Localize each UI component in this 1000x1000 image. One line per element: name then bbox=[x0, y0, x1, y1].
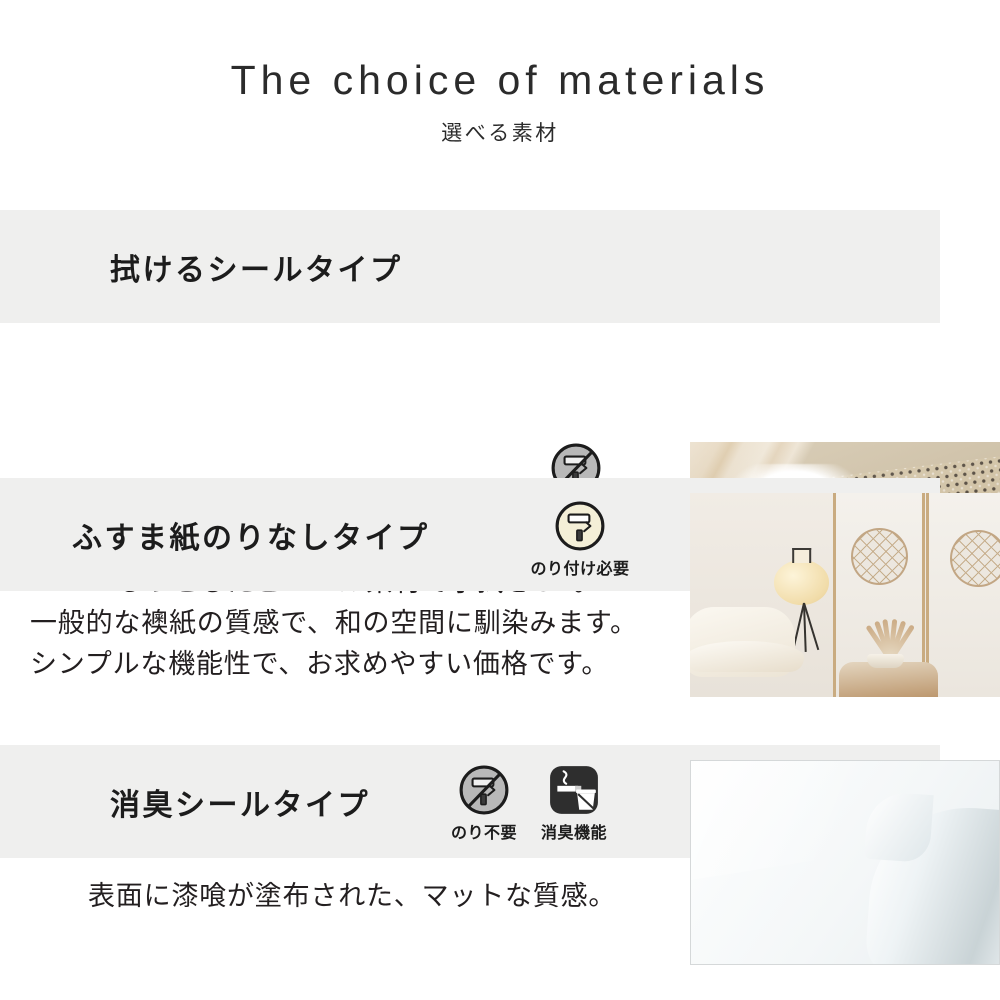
section-body: 表面に漆喰が塗布された、マットな質感。 bbox=[88, 876, 616, 917]
armchair bbox=[690, 607, 795, 676]
section-badges: のり不要 消臭機能 bbox=[448, 764, 610, 843]
badge-label: のり付け必要 bbox=[530, 555, 629, 579]
body-line: 一般的な襖紙の質感で、和の空間に馴染みます。 bbox=[30, 603, 638, 644]
section-badges: のり付け必要 bbox=[520, 500, 640, 579]
badge-glue-required: のり付け必要 bbox=[520, 500, 640, 579]
section-header-row: 拭けるシールタイプ bbox=[0, 210, 580, 323]
section-body: 一般的な襖紙の質感で、和の空間に馴染みます。 シンプルな機能性で、お求めやすい価… bbox=[30, 603, 638, 685]
badge-deodorizing: 消臭機能 bbox=[538, 764, 610, 843]
deodorizing-function-icon bbox=[548, 764, 600, 816]
section-header-row: ふすま紙のりなしタイプ bbox=[0, 478, 560, 591]
section-title: 拭けるシールタイプ bbox=[110, 245, 403, 289]
badge-no-glue: のり不要 bbox=[448, 764, 520, 843]
section-header-row: 消臭シールタイプ bbox=[0, 745, 470, 858]
page-subtitle-ja: 選べる素材 bbox=[0, 103, 1000, 147]
badge-label: のり不要 bbox=[451, 819, 517, 843]
no-glue-roller-icon bbox=[458, 764, 510, 816]
paper-sheet bbox=[690, 760, 1000, 965]
lattice-circle-motif bbox=[950, 530, 1000, 587]
lattice-circle-motif bbox=[851, 528, 908, 585]
paper-curled-corner bbox=[864, 801, 1000, 965]
page-title-en: The choice of materials bbox=[0, 0, 1000, 103]
fusuma-panel bbox=[926, 493, 1000, 697]
photo-japanese-interior-fusuma bbox=[690, 493, 1000, 697]
glue-required-roller-icon bbox=[554, 500, 606, 552]
badge-label: 消臭機能 bbox=[541, 819, 607, 843]
body-line: シンプルな機能性で、お求めやすい価格です。 bbox=[30, 644, 638, 685]
photo-white-matte-paper bbox=[690, 760, 1000, 965]
page-header: The choice of materials 選べる素材 bbox=[0, 0, 1000, 147]
body-line: 表面に漆喰が塗布された、マットな質感。 bbox=[88, 876, 616, 917]
section-title: ふすま紙のりなしタイプ bbox=[72, 513, 430, 557]
pampas-grass bbox=[851, 611, 925, 660]
section-title: 消臭シールタイプ bbox=[110, 780, 370, 824]
plant-pot bbox=[867, 654, 904, 668]
